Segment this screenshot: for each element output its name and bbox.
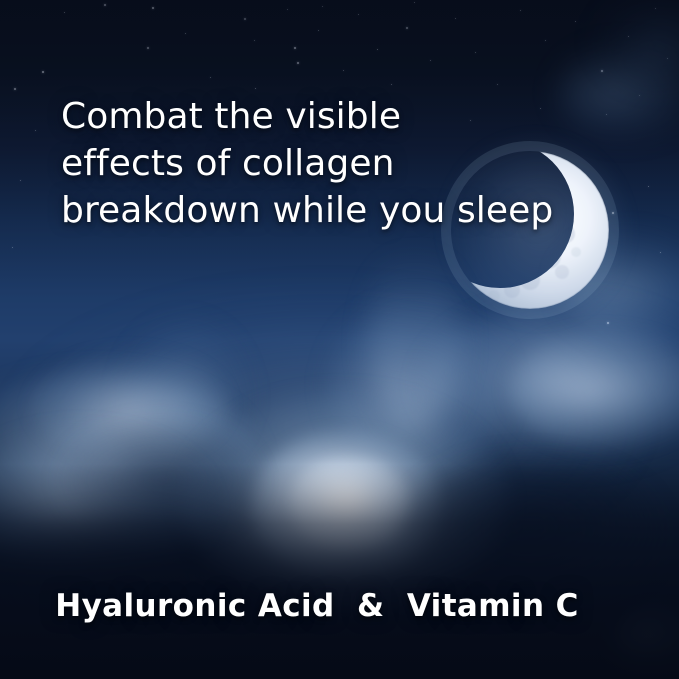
headline-text: Combat the visible effects of collagen b… <box>61 93 581 234</box>
sky-glow <box>0 258 679 564</box>
night-sky-banner: Combat the visible effects of collagen b… <box>0 0 679 679</box>
ingredients-text: Hyaluronic Acid & Vitamin C <box>0 588 634 624</box>
